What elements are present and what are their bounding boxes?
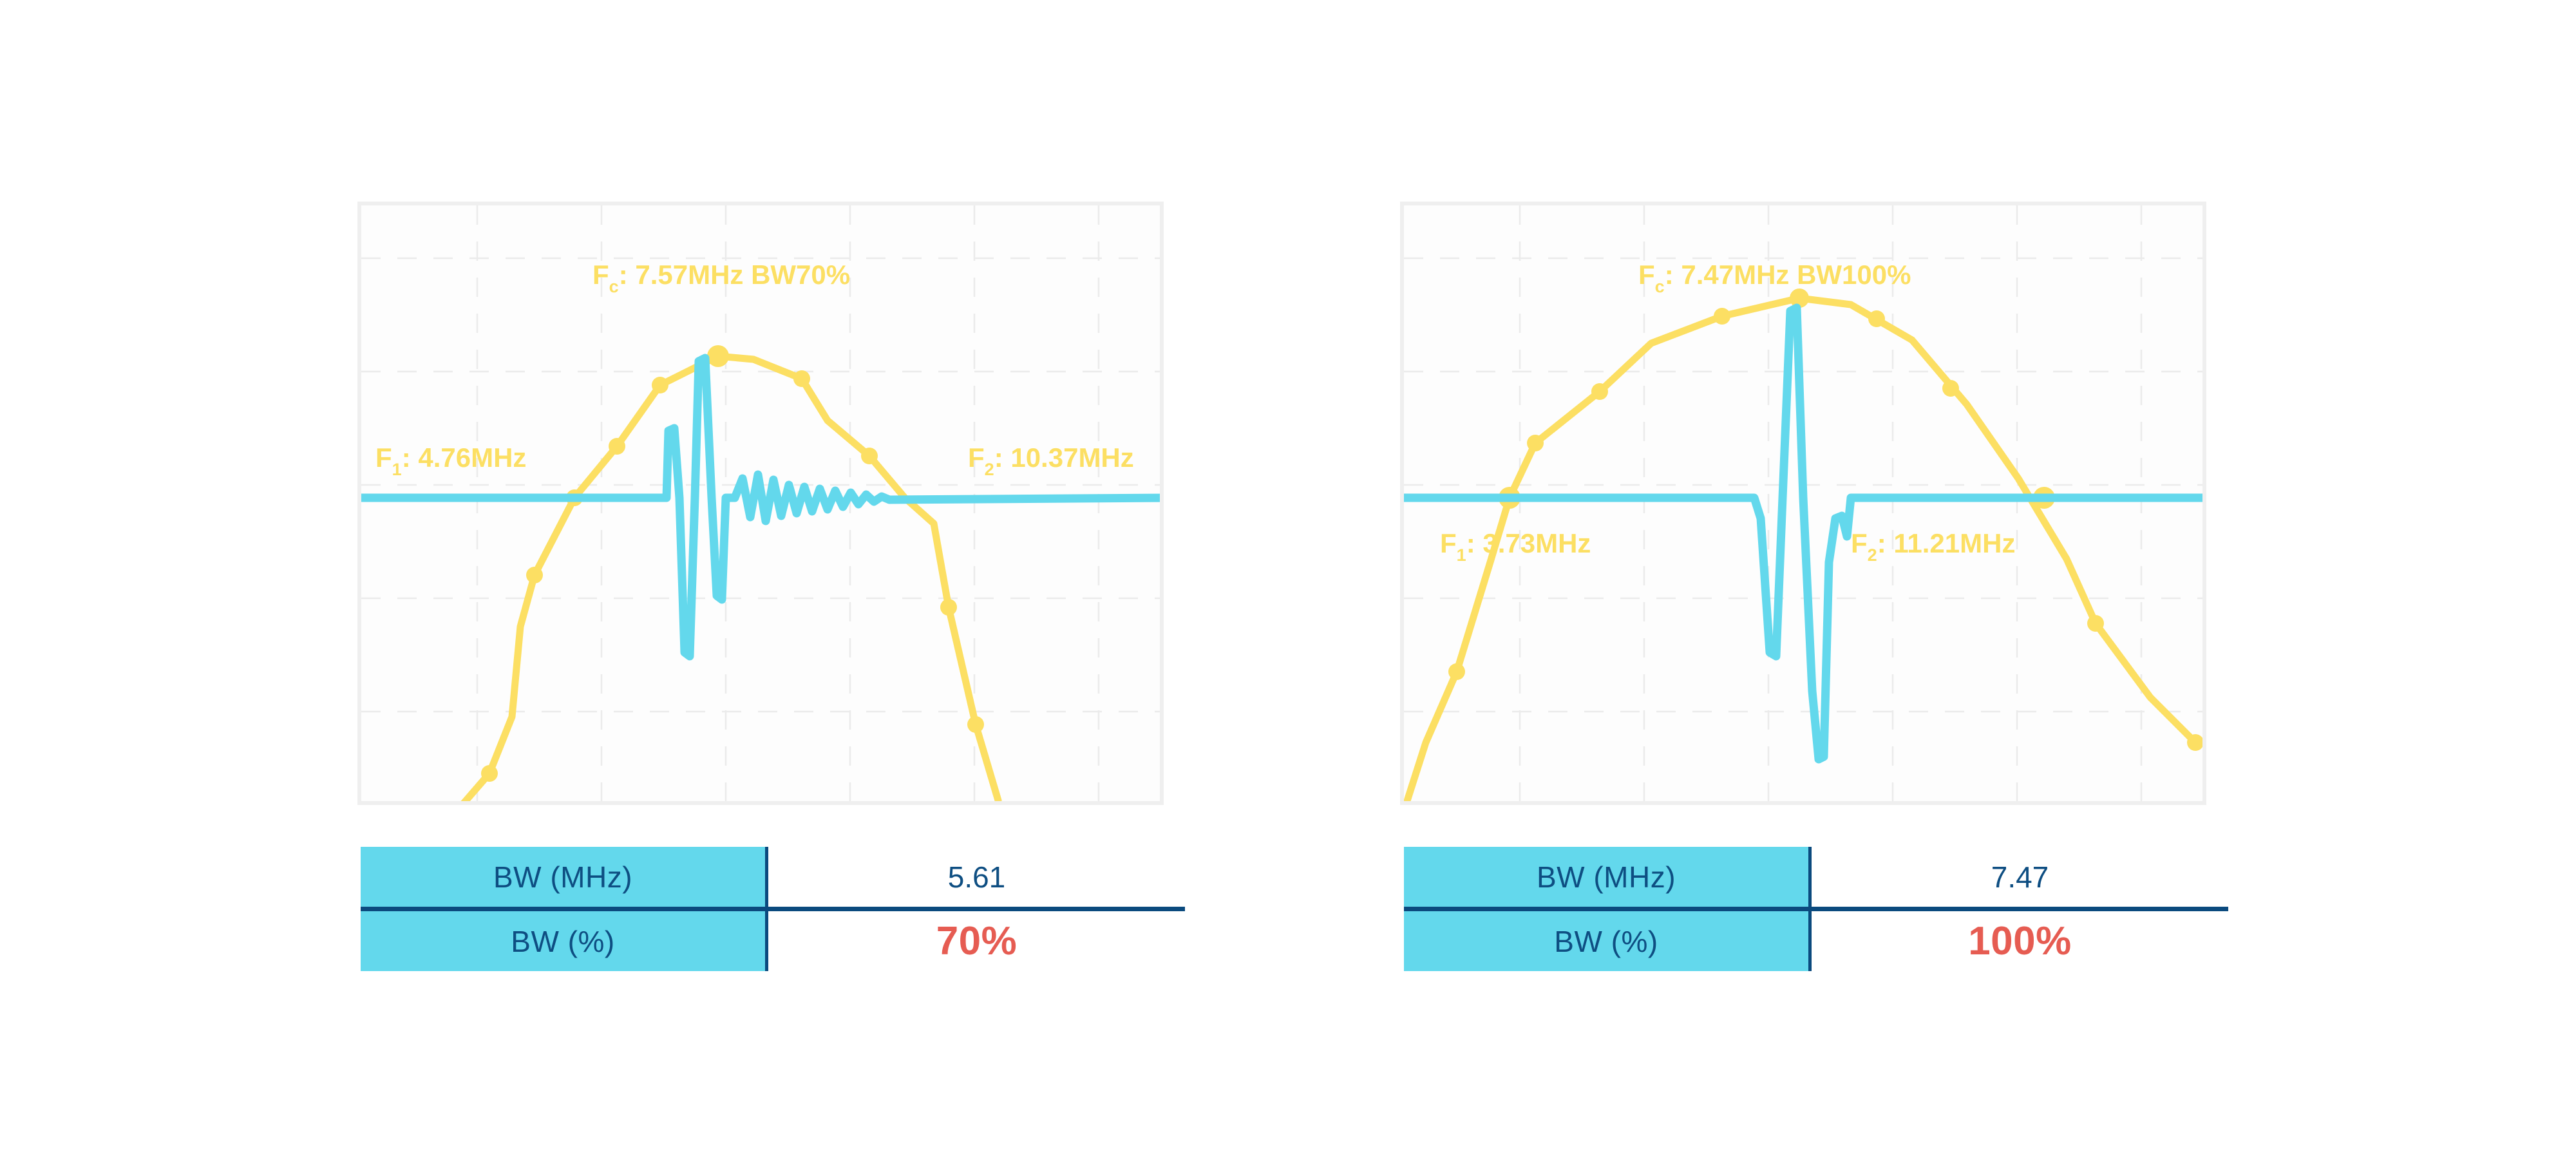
fc-text: : 7.47MHz BW100% bbox=[1665, 260, 1911, 290]
bw-mhz-label: BW (MHz) bbox=[1404, 847, 1810, 909]
fc-subscript: c bbox=[609, 277, 619, 296]
f1-annotation: F1: 4.76MHz bbox=[375, 442, 526, 479]
f1-annotation: F1: 3.73MHz bbox=[1440, 528, 1591, 565]
f2-symbol: F bbox=[968, 442, 985, 473]
bw100-panel: Fc: 7.47MHz BW100% F1: 3.73MHz F2: 11.21… bbox=[1043, 0, 2331, 1154]
bw100-plot-area: Fc: 7.47MHz BW100% F1: 3.73MHz F2: 11.21… bbox=[1400, 202, 2206, 805]
f2-annotation: F2: 11.21MHz bbox=[1851, 528, 2015, 565]
bw-pct-value: 100% bbox=[1810, 909, 2229, 972]
fc-text: : 7.57MHz BW70% bbox=[619, 260, 850, 290]
f1-subscript: 1 bbox=[392, 460, 402, 479]
bw-pct-label: BW (%) bbox=[1404, 909, 1810, 972]
bw-mhz-label: BW (MHz) bbox=[361, 847, 767, 909]
f1-text: : 3.73MHz bbox=[1466, 528, 1591, 558]
fc-annotation: Fc: 7.57MHz BW70% bbox=[592, 260, 850, 296]
f2-symbol: F bbox=[1851, 528, 1868, 558]
f1-symbol: F bbox=[1440, 528, 1457, 558]
f1-symbol: F bbox=[375, 442, 392, 473]
fc-symbol: F bbox=[1638, 260, 1655, 290]
bw100-chart-svg: Fc: 7.47MHz BW100% F1: 3.73MHz F2: 11.21… bbox=[1400, 202, 2206, 805]
f2-subscript: 2 bbox=[985, 460, 994, 479]
spectrum-curve bbox=[460, 356, 998, 805]
bw100-table-wrap: BW (MHz) 7.47 BW (%) 100% bbox=[1404, 847, 2228, 971]
bw-mhz-value: 7.47 bbox=[1810, 847, 2229, 909]
f2-text: : 11.21MHz bbox=[1877, 528, 2016, 558]
f1-subscript: 1 bbox=[1457, 545, 1466, 565]
bw100-table: BW (MHz) 7.47 BW (%) 100% bbox=[1404, 847, 2228, 971]
figure-canvas: Fc: 7.57MHz BW70% F1: 4.76MHz F2: 10.37M… bbox=[0, 0, 2576, 1154]
fc-symbol: F bbox=[592, 260, 609, 290]
f1-text: : 4.76MHz bbox=[402, 442, 527, 473]
table-row: BW (%) 100% bbox=[1404, 909, 2228, 972]
fc-annotation: Fc: 7.47MHz BW100% bbox=[1638, 260, 1911, 296]
table-row: BW (MHz) 7.47 bbox=[1404, 847, 2228, 909]
spectrum-markers bbox=[481, 345, 984, 782]
fc-subscript: c bbox=[1655, 277, 1665, 296]
f2-subscript: 2 bbox=[1868, 545, 1877, 565]
bw-pct-label: BW (%) bbox=[361, 909, 767, 972]
